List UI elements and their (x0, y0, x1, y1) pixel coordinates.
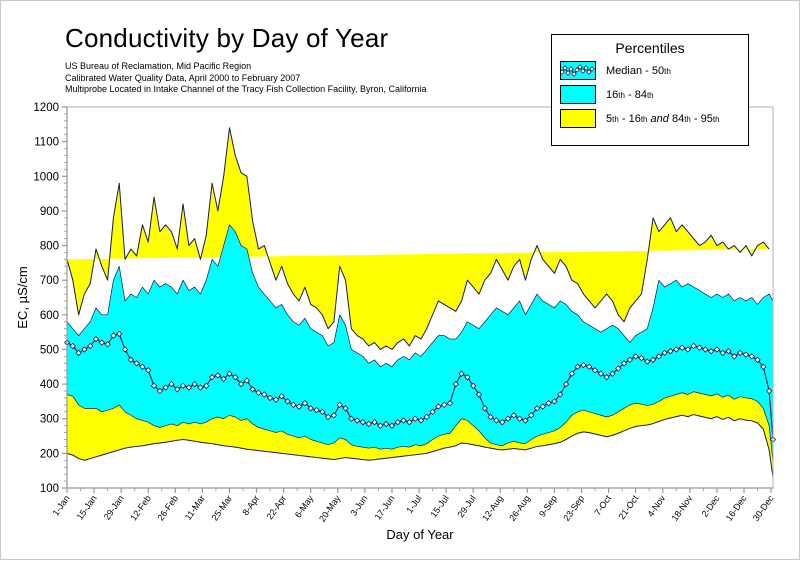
y-tick-label: 800 (40, 241, 59, 253)
y-tick-label: 300 (40, 414, 59, 426)
x-tick-label: 2-Dec (700, 493, 722, 519)
legend-item-median: Median - 50th (560, 61, 748, 80)
x-tick-label: 20-May (317, 493, 343, 524)
x-tick-label: 30-Dec (751, 493, 776, 523)
x-tick-label: 17-Jun (373, 493, 397, 521)
x-tick-label: 15-Jan (75, 493, 99, 521)
x-tick-label: 16-Dec (724, 493, 749, 523)
x-tick-label: 15-Jul (428, 493, 450, 519)
x-tick-label: 7-Oct (592, 493, 613, 517)
chart-page: Conductivity by Day of Year US Bureau of… (0, 0, 800, 560)
x-tick-label: 1-Jul (404, 493, 423, 515)
legend-swatch-outer-band (560, 109, 596, 128)
x-tick-label: 26-Feb (155, 493, 180, 522)
x-tick-label: 9-Sep (537, 493, 559, 518)
legend-item-outer-band: 5th - 16th and 84th - 95th (560, 109, 748, 128)
legend-item-inner-band: 16th - 84th (560, 85, 748, 104)
x-tick-label: 1-Jan (51, 493, 72, 517)
x-tick-label: 4-Nov (645, 493, 667, 519)
x-tick-label: 29-Jan (102, 493, 126, 521)
chart-legend: Percentiles Median - 50th 16th - 84th 5t… (551, 34, 749, 146)
y-tick-label: 700 (40, 275, 59, 287)
legend-label-outer-band: 5th - 16th and 84th - 95th (606, 113, 720, 125)
legend-label-inner-band: 16th - 84th (606, 89, 654, 101)
y-axis: 100200300400500600700800900100011001200 (33, 102, 67, 495)
x-tick-label: 25-Mar (210, 493, 235, 522)
x-tick-label: 18-Nov (670, 493, 695, 523)
y-tick-label: 1100 (34, 137, 59, 149)
y-tick-label: 1000 (33, 171, 59, 183)
y-tick-label: 600 (40, 310, 59, 322)
x-tick-label: 23-Sep (561, 493, 586, 523)
x-tick-label: 6-May (293, 493, 316, 520)
y-axis-title: EC, µS/cm (15, 266, 30, 328)
y-tick-label: 100 (40, 483, 59, 495)
x-tick-label: 29-Jul (456, 493, 478, 519)
x-tick-label: 21-Oct (617, 493, 641, 521)
x-tick-label: 8-Apr (240, 493, 261, 517)
x-tick-label: 12-Feb (128, 493, 153, 522)
x-tick-label: 3-Jun (348, 493, 369, 517)
legend-swatch-inner-band (560, 85, 596, 104)
legend-title: Percentiles (552, 40, 748, 56)
y-tick-label: 500 (40, 344, 59, 356)
y-tick-label: 1200 (33, 102, 59, 114)
x-axis: 1-Jan15-Jan29-Jan12-Feb26-Feb11-Mar25-Ma… (51, 488, 776, 524)
x-tick-label: 26-Aug (507, 493, 532, 523)
legend-swatch-median (560, 61, 596, 80)
y-tick-label: 900 (40, 206, 59, 218)
x-tick-label: 12-Aug (480, 493, 505, 523)
y-tick-label: 200 (40, 448, 59, 460)
x-tick-label: 11-Mar (183, 493, 207, 522)
x-tick-label: 22-Apr (265, 493, 289, 521)
x-axis-title: Day of Year (386, 527, 454, 542)
legend-label-median: Median - 50th (606, 65, 671, 77)
y-tick-label: 400 (40, 379, 59, 391)
